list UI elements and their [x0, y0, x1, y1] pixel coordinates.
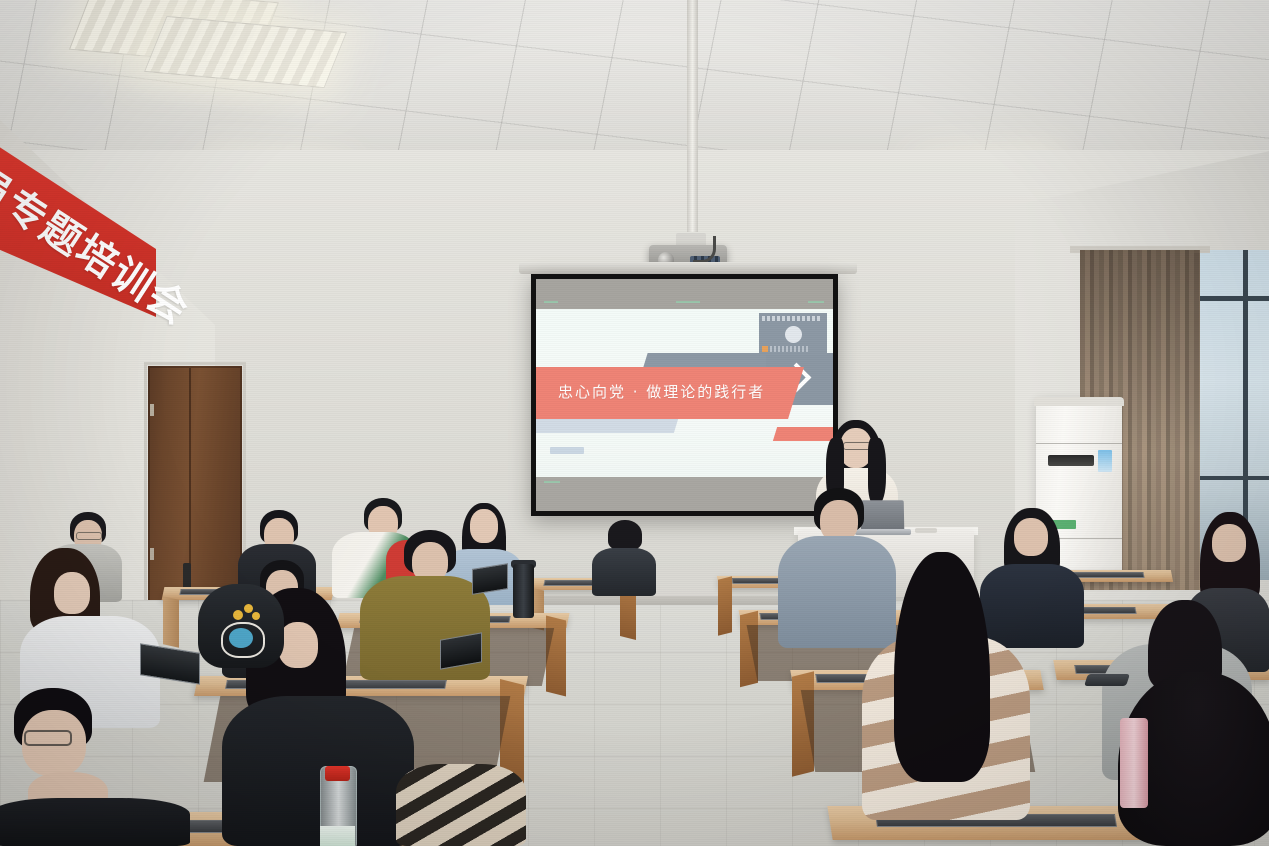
podium-item	[915, 528, 937, 533]
air-conditioner-top	[1034, 397, 1124, 406]
audience-person-1	[0, 688, 190, 846]
ac-seam-1	[1036, 443, 1122, 444]
slide-red-band	[536, 367, 804, 419]
presentation-slide: 忠心向党 · 做理论的践行者	[536, 309, 833, 477]
screen-top-band	[536, 279, 833, 309]
desk-edge-far-right-1	[718, 576, 732, 635]
backpack-print	[219, 600, 263, 656]
slide-blue-band	[536, 419, 678, 433]
backpack-print-blue	[229, 628, 253, 648]
person-torso	[396, 764, 526, 846]
door-hinge-top	[150, 404, 154, 416]
audience-person-15	[396, 764, 526, 846]
window-sill	[1195, 476, 1269, 480]
person-torso	[592, 548, 656, 596]
desk-side-far-left-1	[163, 596, 179, 647]
slide-panel-header	[762, 316, 822, 321]
backpack-print-yellow-2	[244, 604, 253, 613]
window-transom	[1195, 296, 1269, 301]
slide-panel-badge	[762, 346, 768, 352]
classroom-photo: 员专题培训会 忠心向党 · 做理论的践行者	[0, 0, 1269, 846]
person-glasses-icon	[76, 532, 102, 540]
ac-display-panel	[1048, 455, 1094, 466]
slide-panel-footer	[762, 346, 808, 352]
slide-footer-chip	[550, 447, 584, 454]
screen-mark-right	[808, 301, 824, 303]
person-head	[1014, 518, 1048, 556]
screen-mark-bottom	[544, 481, 560, 483]
presenter-glasses-icon	[843, 442, 871, 450]
thermos-tumbler	[513, 564, 534, 618]
audience-person-9	[862, 552, 1030, 820]
person-glasses-icon	[24, 730, 72, 746]
person-head	[278, 622, 318, 668]
person-head	[1212, 524, 1246, 562]
person-torso	[0, 798, 190, 846]
backpack-print-yellow-3	[252, 612, 260, 620]
avatar	[785, 326, 802, 343]
audience-person-18	[592, 520, 656, 596]
screen-mark-center	[676, 301, 700, 303]
person-torso	[222, 696, 414, 846]
pink-pouch	[1120, 718, 1148, 808]
door-handle[interactable]	[183, 563, 191, 589]
screen-mark-left	[544, 301, 558, 303]
person-head	[54, 572, 90, 614]
smartphone[interactable]	[1084, 674, 1130, 686]
ac-energy-label	[1098, 450, 1112, 472]
person-hair	[894, 552, 990, 782]
backpack-print-yellow-1	[233, 610, 243, 620]
projection-screen: 忠心向党 · 做理论的践行者	[536, 279, 833, 511]
slide-overlay-panel	[759, 313, 827, 355]
projector-mount-pole	[687, 0, 698, 232]
person-hair	[608, 520, 642, 550]
bottle-label	[320, 826, 355, 846]
screen-roller-housing	[519, 262, 857, 274]
bottle-cap	[325, 766, 350, 781]
